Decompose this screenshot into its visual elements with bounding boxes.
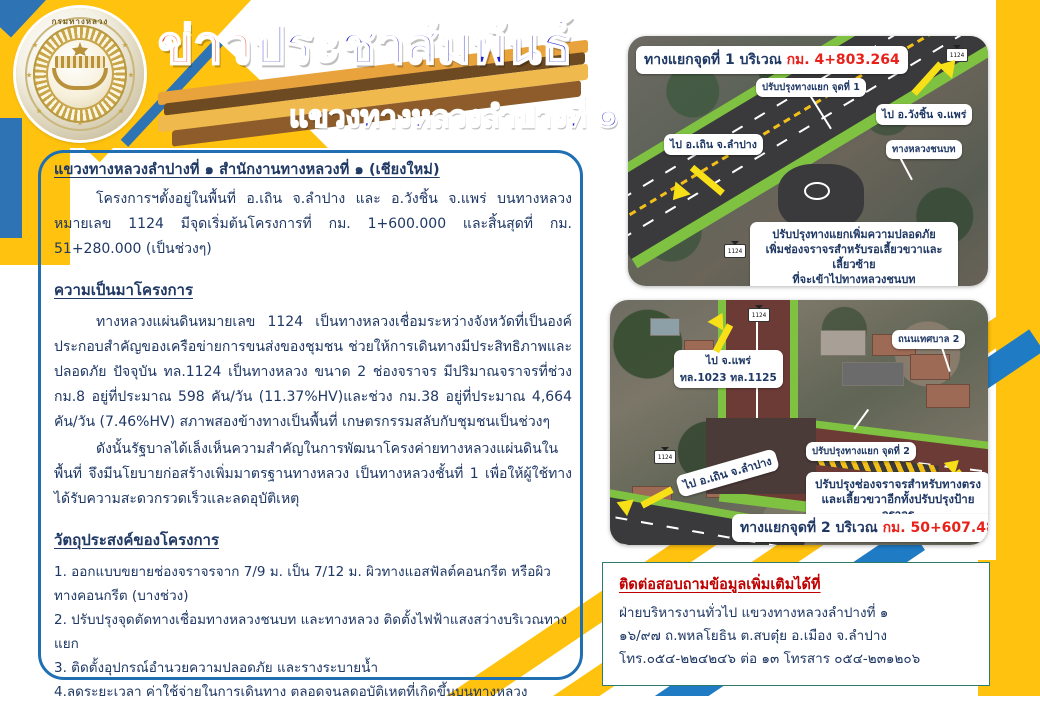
objective-item: 1. ออกแบบขยายช่องจราจรจาก 7/9 ม. เป็น 7/… [54, 560, 572, 608]
route-shield-1124-photo2: 1124 [748, 308, 770, 322]
route-shield-1124-photo2-b: 1124 [654, 450, 676, 464]
photo1-label-to-wangchin: ไป อ.วังชิ้น จ.แพร่ [876, 104, 972, 125]
content-body: แขวงทางหลวงลำปางที่ ๑ สำนักงานทางหลวงที่… [44, 152, 584, 682]
photo1-note-line2: เพิ่มช่องจราจรสำหรับรอเลี้ยวขวาและเลี้ยว… [759, 242, 949, 272]
subtitle-text: แขวงทางหลวงลำปางที่ [289, 100, 597, 135]
contact-line-2: ๑๖/๙๗ ถ.พหลโยธิน ต.สบตุ๋ย อ.เมือง จ.ลำปา… [619, 625, 975, 648]
photo2-label-to-phrae-line2: ทล.1023 ทล.1125 [680, 369, 777, 386]
objective-item: 3. ติดตั้งอุปกรณ์อำนวยความปลอดภัย และราง… [54, 656, 572, 680]
intro-paragraph: โครงการฯตั้งอยู่ในพื้นที่ อ.เถิน จ.ลำปาง… [54, 187, 572, 262]
photo1-title-callout: ทางแยกจุดที่ 1 บริเวณ กม. 4+803.264 [636, 46, 908, 74]
department-of-highways-emblem-icon: กรมทางหลวง [16, 8, 144, 140]
photo1-note-line1: ปรับปรุงทางแยกเพิ่มความปลอดภัย [759, 227, 949, 242]
photo1-label-rural-road: ทางหลวงชนบท [886, 140, 962, 159]
contact-heading: ติดต่อสอบถามข้อมูลเพิ่มเติมได้ที่ [619, 573, 975, 596]
subtitle-number: ๑ [597, 95, 620, 136]
bottom-white-fill [0, 696, 1040, 720]
photo2-junction-label: ปรับปรุงทางแยก จุดที่ 2 [806, 442, 916, 461]
photo2-title-prefix: ทางแยกจุดที่ 2 บริเวณ [740, 520, 883, 536]
poster-root: กรมทางหลวง ข่าวประชาสัมพันธ์ แขวงทางหลวง… [0, 0, 1040, 720]
photo2-note-line1: ปรับปรุงช่องจราจรสำหรับทางตรง [815, 477, 981, 492]
junction-1-aerial-photo: 1124 ทางแยกจุดที่ 1 บริเวณ กม. 4+803.264… [628, 36, 988, 286]
photo1-note-line3: ที่จะเข้าไปทางหลวงชนบท [759, 272, 949, 286]
photo1-label-to-thoen: ไป อ.เถิน จ.ลำปาง [664, 134, 763, 155]
banner: ข่าวประชาสัมพันธ์ แขวงทางหลวงลำปางที่ ๑ [150, 8, 620, 140]
photo2-label-to-phrae-line1: ไป จ.แพร่ [680, 352, 777, 369]
contact-box: ติดต่อสอบถามข้อมูลเพิ่มเติมได้ที่ ฝ่ายบร… [602, 562, 990, 686]
title-blue-part: ประชาสัมพันธ์ [252, 16, 573, 76]
contact-line-3: โทร.๐๕๔-๒๒๔๒๔๖ ต่อ ๑๓ โทรสาร ๐๕๔-๒๓๑๒๐๖ [619, 648, 975, 671]
organization-line: แขวงทางหลวงลำปางที่ ๑ สำนักงานทางหลวงที่… [54, 158, 572, 181]
photo2-label-to-phrae: ไป จ.แพร่ ทล.1023 ทล.1125 [674, 350, 783, 388]
emblem-crest-icon [51, 42, 109, 94]
route-shield-1124-b: 1124 [724, 244, 746, 258]
section-heading-background: ความเป็นมาโครงการ [54, 278, 193, 302]
objective-item: 2. ปรับปรุงจุดตัดทางเชื่อมทางหลวงชนบท แล… [54, 608, 572, 656]
photo1-title-prefix: ทางแยกจุดที่ 1 บริเวณ [644, 52, 787, 68]
left-blue-accent [0, 118, 22, 238]
photo2-title-callout: ทางแยกจุดที่ 2 บริเวณ กม. 50+607.480 [732, 514, 988, 542]
section-heading-objectives: วัตถุประสงค์ของโครงการ [54, 528, 219, 552]
page-title: ข่าวประชาสัมพันธ์ [158, 18, 628, 74]
page-subtitle: แขวงทางหลวงลำปางที่ ๑ [289, 86, 620, 143]
junction-2-aerial-photo: 1124 1124 ไป จ.แพร่ ทล.1023 ทล.1125 ถนนเ… [610, 300, 988, 545]
contact-line-1: ฝ่ายบริหารงานทั่วไป แขวงทางหลวงลำปางที่ … [619, 602, 975, 625]
photo2-label-thetsaban: ถนนเทศบาล 2 [892, 330, 965, 349]
background-paragraph-1: ทางหลวงแผ่นดินหมายเลข 1124 เป็นทางหลวงเช… [54, 310, 572, 435]
emblem-top-text: กรมทางหลวง [16, 15, 144, 28]
photo2-title-km: กม. 50+607.480 [883, 520, 988, 536]
title-red-part: ข่าว [158, 16, 252, 76]
objectives-list: 1. ออกแบบขยายช่องจราจรจาก 7/9 ม. เป็น 7/… [54, 560, 572, 704]
photo1-improvement-note: ปรับปรุงทางแยกเพิ่มความปลอดภัย เพิ่มช่อง… [750, 222, 958, 286]
photo1-title-km: กม. 4+803.264 [787, 52, 900, 68]
background-paragraph-2: ดังนั้นรัฐบาลได้เล็งเห็นความสำคัญในการพั… [54, 437, 572, 512]
